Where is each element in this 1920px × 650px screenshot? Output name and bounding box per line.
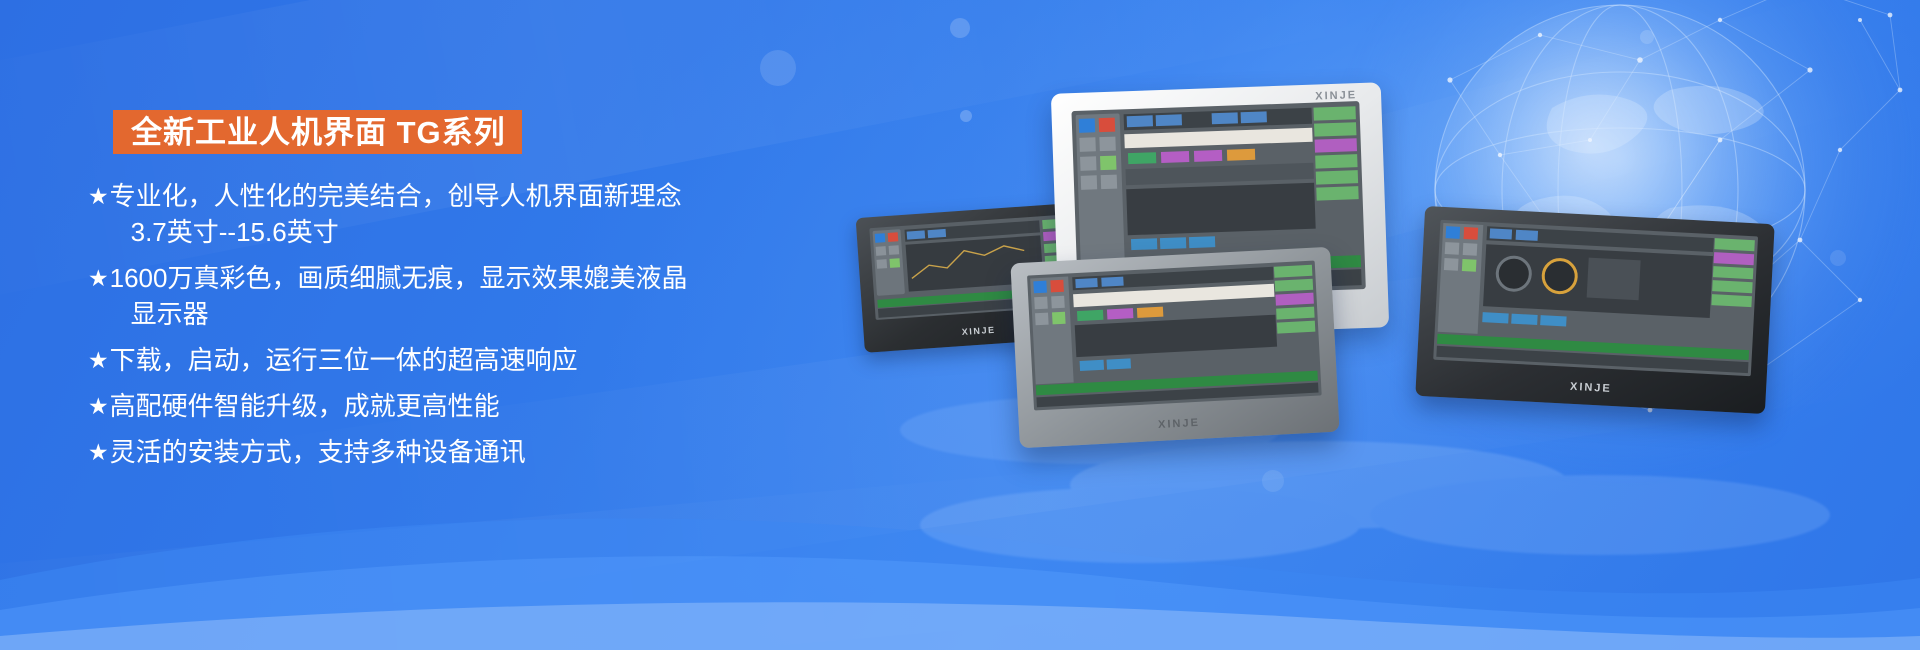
list-item-label: 专业化，人性化的完美结合，创导人机界面新理念 (110, 178, 682, 214)
product-photo-group: XINJE (840, 60, 1920, 580)
list-item-label: 1600万真彩色，画质细腻无痕，显示效果媲美液晶 (110, 260, 688, 296)
list-item-sublabel: 3.7英寸--15.6英寸 (110, 214, 682, 250)
banner-copy: 全新工业人机界面 TG系列 ★ 专业化，人性化的完美结合，创导人机界面新理念 3… (0, 0, 900, 650)
list-item: ★ 灵活的安装方式，支持多种设备通讯 (88, 434, 888, 470)
device-brand-label: XINJE (1315, 89, 1357, 102)
list-item-sublabel: 显示器 (110, 296, 688, 332)
bokeh-circle (950, 18, 970, 38)
star-icon: ★ (88, 388, 109, 424)
banner-title: 全新工业人机界面 TG系列 (113, 110, 522, 154)
star-icon: ★ (88, 260, 109, 296)
star-icon: ★ (88, 342, 109, 378)
list-item-label: 灵活的安装方式，支持多种设备通讯 (110, 434, 526, 470)
hmi-wide-right: XINJE (1415, 206, 1774, 414)
list-item: ★ 下载，启动，运行三位一体的超高速响应 (88, 342, 888, 378)
list-item: ★ 1600万真彩色，画质细腻无痕，显示效果媲美液晶 显示器 (88, 260, 888, 332)
star-icon: ★ (88, 434, 109, 470)
star-icon: ★ (88, 178, 109, 214)
feature-list: ★ 专业化，人性化的完美结合，创导人机界面新理念 3.7英寸--15.6英寸 ★… (88, 178, 888, 480)
hmi-medium-front: XINJE (1010, 247, 1339, 448)
banner-background: XINJE (0, 0, 1920, 650)
list-item-label: 下载，启动，运行三位一体的超高速响应 (110, 342, 578, 378)
list-item: ★ 专业化，人性化的完美结合，创导人机界面新理念 3.7英寸--15.6英寸 (88, 178, 888, 250)
list-item-label: 高配硬件智能升级，成就更高性能 (110, 388, 500, 424)
list-item: ★ 高配硬件智能升级，成就更高性能 (88, 388, 888, 424)
page-title: 全新工业人机界面 TG系列 (131, 117, 506, 148)
